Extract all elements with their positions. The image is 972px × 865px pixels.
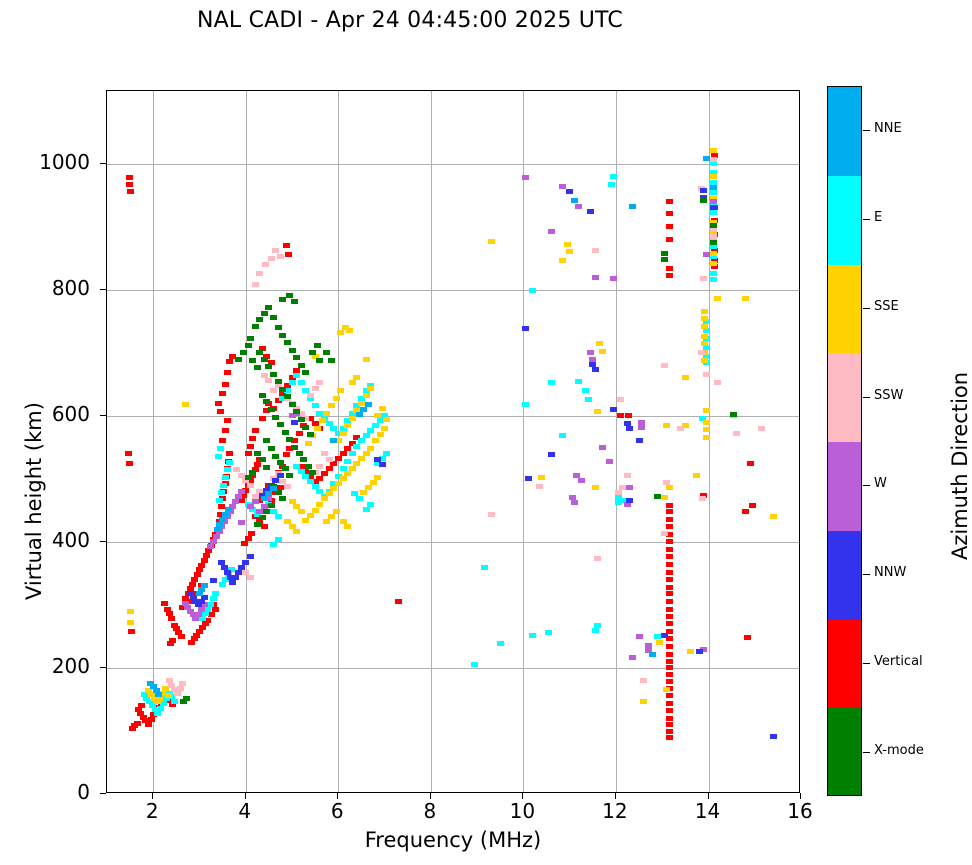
scatter-point xyxy=(525,476,532,481)
scatter-point xyxy=(284,394,291,399)
scatter-point xyxy=(592,485,599,490)
scatter-point xyxy=(471,662,478,667)
scatter-point xyxy=(263,399,270,404)
scatter-point xyxy=(323,519,330,524)
colorbar-segment-x-mode xyxy=(828,708,861,796)
scatter-point xyxy=(252,428,259,433)
scatter-point xyxy=(536,484,543,489)
scatter-point xyxy=(300,457,307,462)
scatter-point xyxy=(714,296,721,301)
scatter-point xyxy=(177,686,184,691)
scatter-point xyxy=(365,485,372,490)
scatter-point xyxy=(145,722,152,727)
scatter-point xyxy=(284,519,291,524)
scatter-point xyxy=(289,348,296,353)
scatter-point xyxy=(275,514,282,519)
scatter-point xyxy=(693,473,700,478)
scatter-point xyxy=(564,242,571,247)
scatter-point xyxy=(666,539,673,544)
scatter-point xyxy=(319,418,326,423)
scatter-point xyxy=(571,500,578,505)
scatter-point xyxy=(666,237,673,242)
colorbar-segment-e xyxy=(828,176,861,265)
x-axis-label: Frequency (MHz) xyxy=(106,828,800,852)
scatter-point xyxy=(615,500,622,505)
scatter-point xyxy=(349,466,356,471)
scatter-point xyxy=(559,433,566,438)
colorbar-label-nnw: NNW xyxy=(874,565,906,580)
scatter-point xyxy=(666,554,673,559)
scatter-point xyxy=(326,457,333,462)
scatter-point xyxy=(344,471,351,476)
scatter-point xyxy=(606,459,613,464)
scatter-point xyxy=(663,423,670,428)
scatter-point xyxy=(710,199,717,204)
scatter-point xyxy=(247,504,254,509)
scatter-point xyxy=(395,599,402,604)
colorbar-label-x-mode: X-mode xyxy=(874,743,924,758)
scatter-point xyxy=(666,199,673,204)
scatter-point xyxy=(198,563,205,568)
scatter-point xyxy=(710,261,717,266)
scatter-point xyxy=(201,583,208,588)
scatter-point xyxy=(559,258,566,263)
colorbar-segment-w xyxy=(828,442,861,531)
scatter-point xyxy=(372,438,379,443)
scatter-point xyxy=(545,630,552,635)
scatter-point xyxy=(666,211,673,216)
scatter-point xyxy=(217,446,224,451)
scatter-point xyxy=(742,296,749,301)
scatter-point xyxy=(316,380,323,385)
scatter-point xyxy=(238,565,245,570)
scatter-point xyxy=(247,483,254,488)
scatter-point xyxy=(326,491,333,496)
scatter-point xyxy=(548,380,555,385)
scatter-point xyxy=(218,490,225,495)
scatter-point xyxy=(666,577,673,582)
scatter-point xyxy=(259,416,266,421)
scatter-point xyxy=(529,288,536,293)
scatter-point xyxy=(127,189,134,194)
scatter-point xyxy=(203,553,210,558)
scatter-point xyxy=(666,570,673,575)
scatter-point xyxy=(661,495,668,500)
scatter-point xyxy=(649,652,656,657)
colorbar-segment-nnw xyxy=(828,531,861,620)
scatter-point xyxy=(249,436,256,441)
scatter-point xyxy=(249,358,256,363)
scatter-point xyxy=(252,282,259,287)
scatter-point xyxy=(367,386,374,391)
x-axis-tick-label: 8 xyxy=(400,799,460,823)
scatter-point xyxy=(749,503,756,508)
scatter-point xyxy=(701,324,708,329)
scatter-point xyxy=(307,432,314,437)
scatter-point xyxy=(125,451,132,456)
scatter-point xyxy=(270,388,277,393)
scatter-point xyxy=(154,711,161,716)
colorbar-tick xyxy=(863,574,870,575)
scatter-point xyxy=(233,467,240,472)
scatter-point xyxy=(293,529,300,534)
scatter-point xyxy=(615,490,622,495)
scatter-point xyxy=(663,687,670,692)
scatter-point xyxy=(585,397,592,402)
scatter-point xyxy=(666,503,673,508)
scatter-point xyxy=(344,524,351,529)
scatter-point xyxy=(358,456,365,461)
scatter-point xyxy=(309,470,316,475)
scatter-point xyxy=(638,425,645,430)
scatter-point xyxy=(247,444,254,449)
scatter-point xyxy=(298,363,305,368)
scatter-point xyxy=(219,391,226,396)
scatter-point xyxy=(245,451,252,456)
scatter-point xyxy=(365,402,372,407)
scatter-point xyxy=(316,476,323,481)
scatter-point xyxy=(238,489,245,494)
scatter-point xyxy=(666,735,673,740)
scatter-point xyxy=(363,357,370,362)
scatter-point xyxy=(661,251,668,256)
scatter-point xyxy=(548,229,555,234)
scatter-point xyxy=(730,412,737,417)
scatter-point xyxy=(265,305,272,310)
scatter-point xyxy=(710,240,717,245)
colorbar xyxy=(827,86,862,796)
scatter-point xyxy=(710,148,717,153)
scatter-point xyxy=(700,276,707,281)
scatter-point xyxy=(316,464,323,469)
scatter-point xyxy=(316,358,323,363)
scatter-point xyxy=(305,441,312,446)
scatter-point xyxy=(626,426,633,431)
scatter-point xyxy=(282,466,289,471)
scatter-point xyxy=(703,420,710,425)
scatter-point xyxy=(610,174,617,179)
scatter-point xyxy=(481,565,488,570)
scatter-point xyxy=(703,156,710,161)
colorbar-label-e: E xyxy=(874,210,882,225)
scatter-point xyxy=(261,311,268,316)
scatter-point xyxy=(333,396,340,401)
scatter-point xyxy=(661,531,668,536)
scatter-point xyxy=(323,350,330,355)
scatter-point xyxy=(270,542,277,547)
scatter-point xyxy=(710,271,717,276)
scatter-point xyxy=(699,496,706,501)
scatter-point xyxy=(256,271,263,276)
scatter-point xyxy=(263,509,270,514)
scatter-point xyxy=(353,444,360,449)
scatter-point xyxy=(291,445,298,450)
scatter-point xyxy=(710,157,717,162)
scatter-point xyxy=(548,452,555,457)
scatter-point xyxy=(374,413,381,418)
scatter-point xyxy=(666,665,673,670)
scatter-point xyxy=(328,358,335,363)
scatter-point xyxy=(216,498,223,503)
scatter-point xyxy=(559,184,566,189)
scatter-point xyxy=(168,616,175,621)
scatter-point xyxy=(215,454,222,459)
scatter-point xyxy=(270,372,277,377)
scatter-point xyxy=(587,209,594,214)
scatter-point xyxy=(126,461,133,466)
scatter-point xyxy=(182,402,189,407)
x-axis-tick-label: 14 xyxy=(678,799,738,823)
scatter-point xyxy=(330,486,337,491)
scatter-point xyxy=(353,375,360,380)
scatter-point xyxy=(383,451,390,456)
scatter-point xyxy=(701,334,708,339)
scatter-point xyxy=(195,612,202,617)
scatter-point xyxy=(594,623,601,628)
scatter-point xyxy=(636,634,643,639)
scatter-point xyxy=(666,591,673,596)
scatter-point xyxy=(283,452,290,457)
scatter-point xyxy=(160,701,167,706)
scatter-point xyxy=(701,358,708,363)
scatter-point xyxy=(666,672,673,677)
scatter-point xyxy=(661,633,668,638)
scatter-point xyxy=(714,380,721,385)
colorbar-label-vertical: Vertical xyxy=(874,654,923,669)
scatter-point xyxy=(340,451,347,456)
scatter-point xyxy=(222,382,229,387)
scatter-point xyxy=(298,509,305,514)
ionogram-plot xyxy=(106,90,800,793)
scatter-point xyxy=(337,388,344,393)
scatter-point xyxy=(126,182,133,187)
scatter-point xyxy=(335,481,342,486)
scatter-point xyxy=(666,266,673,271)
scatter-point xyxy=(285,252,292,257)
scatter-point xyxy=(270,486,277,491)
scatter-point xyxy=(210,596,217,601)
scatter-point xyxy=(289,499,296,504)
scatter-point xyxy=(326,466,333,471)
scatter-point xyxy=(272,454,279,459)
scatter-point xyxy=(578,478,585,483)
scatter-point xyxy=(291,299,298,304)
scatter-point xyxy=(700,198,707,203)
scatter-point xyxy=(298,417,305,422)
scatter-point xyxy=(710,174,717,179)
colorbar-tick xyxy=(863,308,870,309)
scatter-point xyxy=(337,330,344,335)
scatter-point xyxy=(265,378,272,383)
scatter-point xyxy=(654,494,661,499)
y-axis-tick xyxy=(100,793,106,794)
scatter-point xyxy=(610,276,617,281)
scatter-point xyxy=(663,480,670,485)
scatter-point xyxy=(379,406,386,411)
scatter-point xyxy=(321,451,328,456)
scatter-point xyxy=(235,357,242,362)
scatter-point xyxy=(263,438,270,443)
scatter-point xyxy=(710,185,717,190)
scatter-point xyxy=(302,370,309,375)
scatter-point xyxy=(224,467,231,472)
scatter-point xyxy=(183,696,190,701)
scatter-point xyxy=(155,692,162,697)
scatter-point xyxy=(219,438,226,443)
scatter-point xyxy=(666,729,673,734)
scatter-point xyxy=(289,524,296,529)
scatter-point xyxy=(582,388,589,393)
scatter-point xyxy=(367,446,374,451)
scatter-point xyxy=(344,459,351,464)
x-axis-tick-label: 2 xyxy=(122,799,182,823)
scatter-point xyxy=(259,393,266,398)
scatter-point xyxy=(224,370,231,375)
colorbar-segment-vertical xyxy=(828,620,861,709)
scatter-point xyxy=(370,480,377,485)
scatter-point xyxy=(666,562,673,567)
scatter-point xyxy=(289,380,296,385)
scatter-point xyxy=(698,350,705,355)
scatter-point xyxy=(687,649,694,654)
y-axis-tick-label: 1000 xyxy=(18,150,90,174)
scatter-point xyxy=(351,491,358,496)
colorbar-tick xyxy=(863,219,870,220)
scatter-point xyxy=(703,427,710,432)
scatter-point xyxy=(182,601,189,606)
scatter-point xyxy=(277,254,284,259)
x-axis-tick-label: 12 xyxy=(585,799,645,823)
scatter-point xyxy=(214,527,221,532)
scatter-point xyxy=(626,498,633,503)
scatter-point xyxy=(566,249,573,254)
scatter-point xyxy=(245,343,252,348)
scatter-point xyxy=(629,655,636,660)
scatter-point xyxy=(240,350,247,355)
scatter-point xyxy=(624,473,631,478)
scatter-point xyxy=(256,317,263,322)
scatter-point xyxy=(254,451,261,456)
scatter-point xyxy=(599,445,606,450)
scatter-point xyxy=(262,262,269,267)
scatter-point xyxy=(293,409,300,414)
scatter-point xyxy=(277,473,284,478)
scatter-point xyxy=(174,691,181,696)
scatter-point xyxy=(666,659,673,664)
scatter-point xyxy=(196,591,203,596)
scatter-point xyxy=(701,341,708,346)
scatter-point xyxy=(349,380,356,385)
scatter-point xyxy=(272,415,279,420)
scatter-point xyxy=(710,223,717,228)
scatter-point xyxy=(488,239,495,244)
x-axis-tick-label: 16 xyxy=(770,799,830,823)
scatter-point xyxy=(305,464,312,469)
scatter-point xyxy=(529,633,536,638)
scatter-point xyxy=(330,438,337,443)
scatter-point xyxy=(242,560,249,565)
scatter-point xyxy=(157,706,164,711)
scatter-point xyxy=(201,558,208,563)
scatter-point xyxy=(126,175,133,180)
scatter-point xyxy=(261,496,268,501)
x-axis-tick-label: 4 xyxy=(215,799,275,823)
scatter-point xyxy=(626,485,633,490)
scatter-point xyxy=(666,693,673,698)
scatter-point xyxy=(640,699,647,704)
scatter-point xyxy=(268,446,275,451)
scatter-point xyxy=(316,502,323,507)
scatter-point xyxy=(666,485,673,490)
scatter-point xyxy=(666,652,673,657)
scatter-point xyxy=(592,367,599,372)
scatter-point xyxy=(575,379,582,384)
scatter-point xyxy=(293,373,300,378)
scatter-point xyxy=(363,507,370,512)
colorbar-tick xyxy=(863,663,870,664)
scatter-point xyxy=(666,679,673,684)
scatter-point xyxy=(235,570,242,575)
scatter-point xyxy=(282,430,289,435)
scatter-point xyxy=(645,643,652,648)
y-axis-tick-label: 0 xyxy=(18,780,90,804)
scatter-point xyxy=(189,582,196,587)
y-axis-tick xyxy=(100,289,106,290)
scatter-point xyxy=(661,257,668,262)
scatter-point xyxy=(178,634,185,639)
scatter-point xyxy=(592,628,599,633)
scatter-point xyxy=(661,363,668,368)
scatter-point xyxy=(277,460,284,465)
scatter-point xyxy=(312,386,319,391)
scatter-point xyxy=(232,499,239,504)
scatter-point xyxy=(349,451,356,456)
scatter-point xyxy=(272,478,279,483)
scatter-point xyxy=(284,484,291,489)
scatter-point xyxy=(666,701,673,706)
scatter-point xyxy=(608,182,615,187)
scatter-point xyxy=(275,379,282,384)
scatter-point xyxy=(656,640,663,645)
scatter-point xyxy=(625,413,632,418)
scatter-point xyxy=(666,273,673,278)
scatter-point xyxy=(497,641,504,646)
scatter-point xyxy=(254,462,261,467)
colorbar-tick xyxy=(863,485,870,486)
scatter-point xyxy=(594,556,601,561)
scatter-point xyxy=(235,494,242,499)
scatter-point xyxy=(127,620,134,625)
scatter-point xyxy=(666,607,673,612)
scatter-point xyxy=(571,198,578,203)
scatter-point xyxy=(138,703,145,708)
scatter-point xyxy=(283,243,290,248)
scatter-point xyxy=(710,277,717,282)
scatter-point xyxy=(747,461,754,466)
y-axis-label: Virtual height (km) xyxy=(22,402,46,600)
scatter-point xyxy=(596,341,603,346)
scatter-point xyxy=(129,726,136,731)
scatter-point xyxy=(279,297,286,302)
y-axis-tick-label: 200 xyxy=(18,654,90,678)
scatter-point xyxy=(314,426,321,431)
scatter-point xyxy=(226,359,233,364)
scatter-point xyxy=(666,614,673,619)
scatter-point xyxy=(261,524,268,529)
scatter-point xyxy=(335,456,342,461)
colorbar-label-ssw: SSW xyxy=(874,388,903,403)
scatter-point xyxy=(226,460,233,465)
